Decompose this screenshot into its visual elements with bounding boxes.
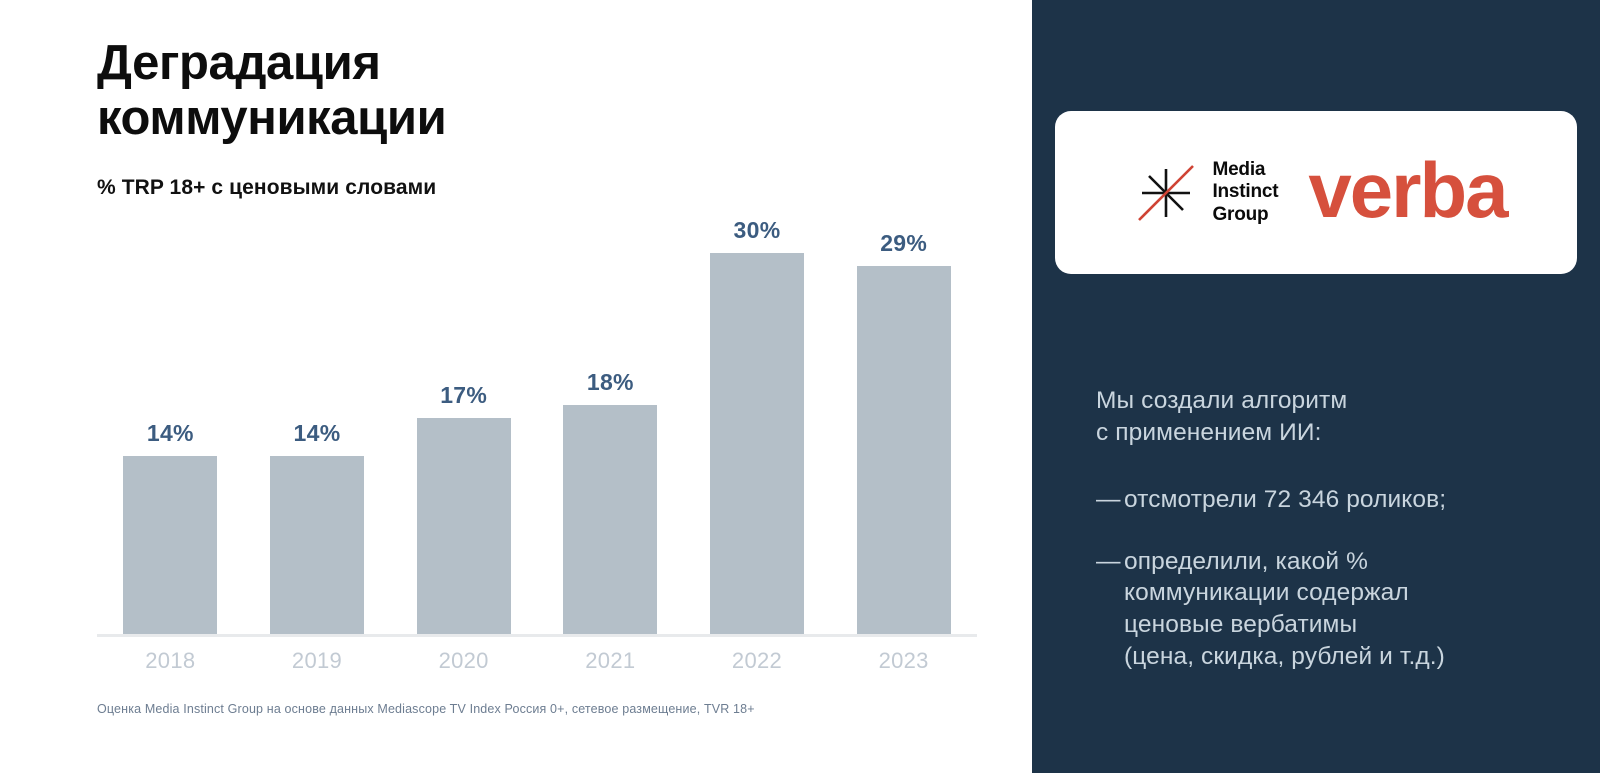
bar-chart: 14%14%17%18%30%29% — [97, 215, 977, 637]
bar-value-label: 17% — [440, 382, 487, 409]
panel-bullet-2: —определили, какой %коммуникации содержа… — [1096, 546, 1566, 672]
bar-rect[interactable] — [270, 456, 364, 634]
brand-pane: Media Instinct Group verba Мы создали ал… — [1032, 0, 1600, 773]
bullet-text-line-3: ценовые вербатимы — [1124, 609, 1445, 641]
page-title-line-1: Деградация — [97, 36, 381, 90]
bar-column-2022[interactable]: 30% — [684, 215, 830, 634]
chart-pane: Деградация коммуникации % TRP 18+ с цено… — [0, 0, 1032, 773]
bar-value-label: 30% — [734, 217, 781, 244]
page-title-line-2: коммуникации — [97, 91, 857, 146]
media-instinct-wordmark: Media Instinct Group — [1212, 159, 1278, 226]
bar-column-2021[interactable]: 18% — [537, 215, 683, 634]
chart-footnote: Оценка Media Instinct Group на основе да… — [97, 702, 755, 716]
x-tick-label-2022: 2022 — [684, 648, 830, 674]
x-tick-label-2023: 2023 — [831, 648, 977, 674]
logo-card: Media Instinct Group verba — [1055, 111, 1577, 274]
bar-rect[interactable] — [857, 266, 951, 634]
mig-word-line-1: Media — [1212, 159, 1278, 181]
bullet-text-line-4: (цена, скидка, рублей и т.д.) — [1124, 641, 1445, 673]
bar-column-2018[interactable]: 14% — [97, 215, 243, 634]
panel-lead-line-2: с применением ИИ: — [1096, 417, 1566, 449]
panel-body-copy: Мы создали алгоритм с применением ИИ: —о… — [1096, 385, 1566, 672]
x-tick-label-2021: 2021 — [537, 648, 683, 674]
bar-value-label: 14% — [147, 420, 194, 447]
bullet-text-line-1: отсмотрели 72 346 роликов; — [1124, 484, 1446, 516]
page-title: Деградация коммуникации — [97, 36, 857, 147]
bar-rect[interactable] — [710, 253, 804, 634]
bullet-dash-icon: — — [1096, 484, 1124, 516]
panel-lead: Мы создали алгоритм с применением ИИ: — [1096, 385, 1566, 448]
panel-bullet-list: —отсмотрели 72 346 роликов;—определили, … — [1096, 484, 1566, 672]
bullet-text: отсмотрели 72 346 роликов; — [1124, 484, 1446, 516]
x-tick-label-2020: 2020 — [391, 648, 537, 674]
bar-rect[interactable] — [417, 418, 511, 634]
bullet-dash-icon: — — [1096, 546, 1124, 672]
bullet-text-line-2: коммуникации содержал — [1124, 577, 1445, 609]
bar-value-label: 14% — [294, 420, 341, 447]
mig-word-line-2: Instinct — [1212, 181, 1278, 203]
slide-root: Деградация коммуникации % TRP 18+ с цено… — [0, 0, 1600, 773]
x-tick-label-2018: 2018 — [97, 648, 243, 674]
bar-value-label: 29% — [880, 230, 927, 257]
media-instinct-logo: Media Instinct Group — [1133, 159, 1278, 226]
panel-bullet-1: —отсмотрели 72 346 роликов; — [1096, 484, 1566, 516]
bar-column-2019[interactable]: 14% — [244, 215, 390, 634]
bullet-text: определили, какой %коммуникации содержал… — [1124, 546, 1445, 672]
panel-lead-line-1: Мы создали алгоритм — [1096, 385, 1566, 417]
bar-column-2020[interactable]: 17% — [391, 215, 537, 634]
media-instinct-star-icon — [1133, 160, 1199, 226]
verba-wordmark: verba — [1308, 157, 1506, 223]
chart-x-axis-labels: 201820192020202120222023 — [97, 648, 977, 680]
mig-word-line-3: Group — [1212, 204, 1278, 226]
x-tick-label-2019: 2019 — [244, 648, 390, 674]
bar-rect[interactable] — [123, 456, 217, 634]
chart-plot-area: 14%14%17%18%30%29% — [97, 215, 977, 637]
bullet-text-line-1: определили, какой % — [1124, 546, 1445, 578]
bar-column-2023[interactable]: 29% — [831, 215, 977, 634]
chart-subtitle: % TRP 18+ с ценовыми словами — [97, 176, 436, 200]
bar-rect[interactable] — [563, 405, 657, 634]
chart-baseline-axis — [97, 634, 977, 637]
bar-value-label: 18% — [587, 369, 634, 396]
